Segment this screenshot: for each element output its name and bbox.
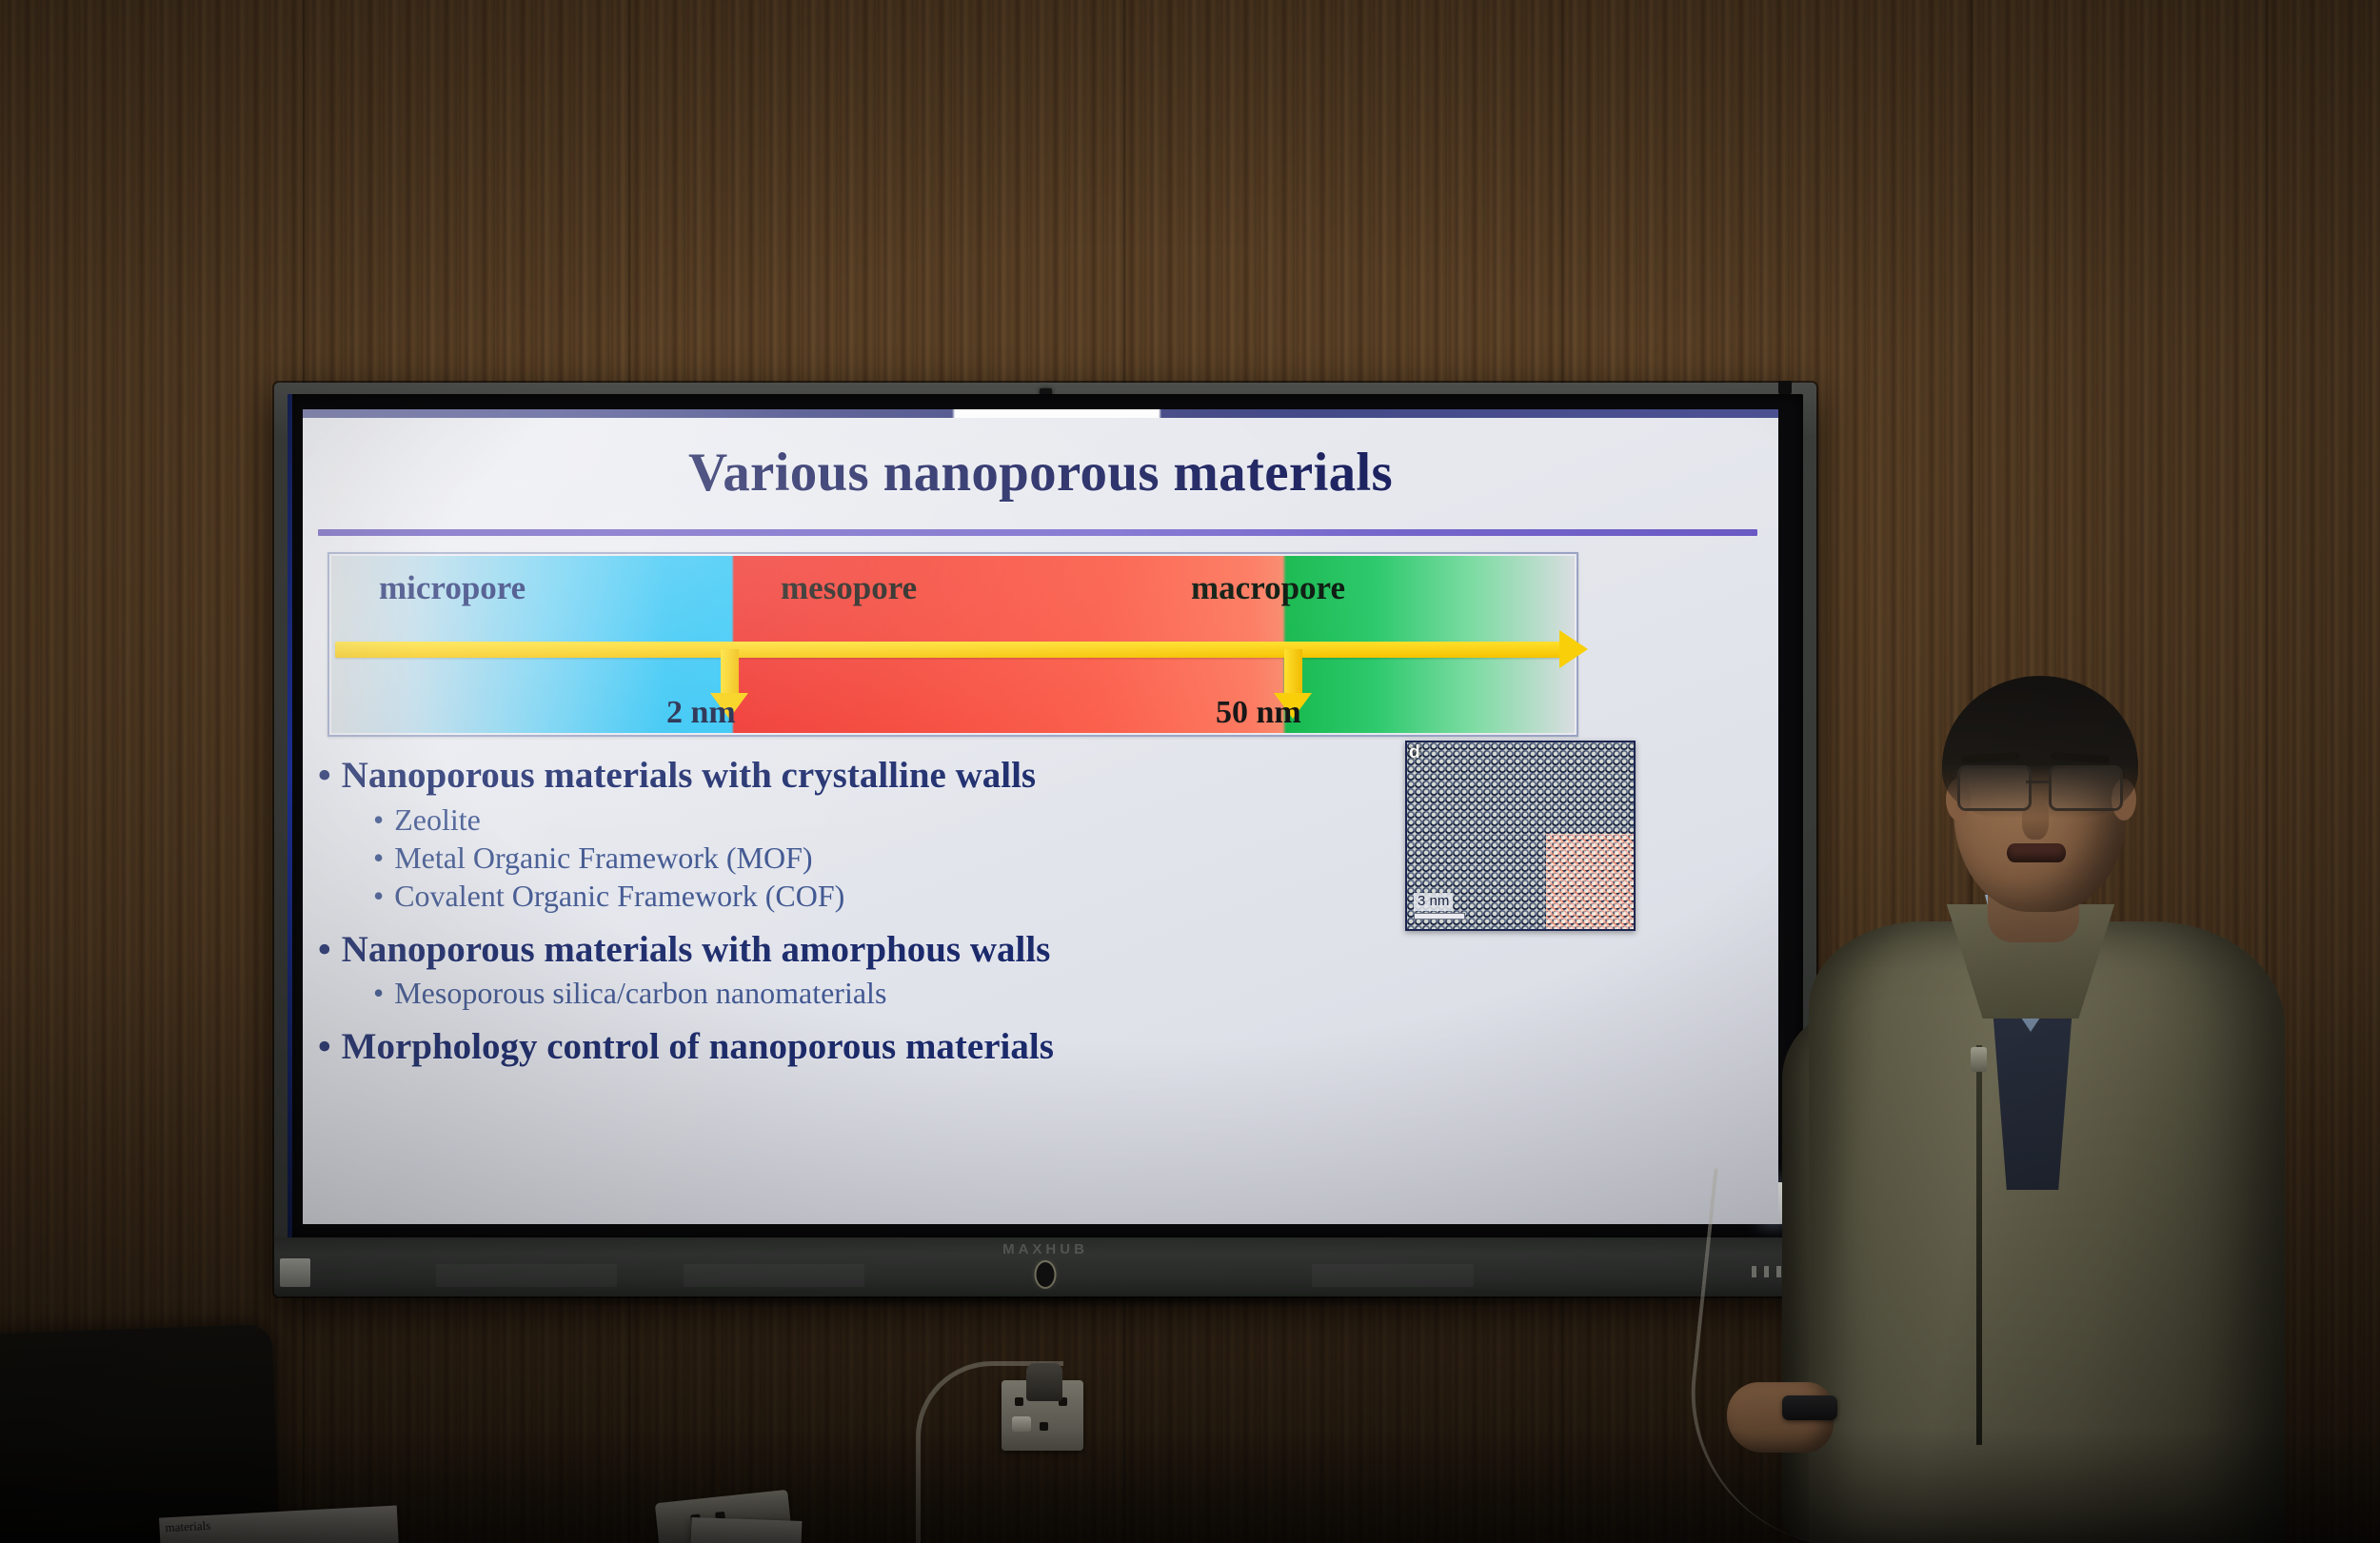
bullet-level2: •Mesoporous silica/carbon nanomaterials xyxy=(373,975,1765,1011)
pore-label-micropore: micropore xyxy=(379,571,526,604)
bullet-text: Morphology control of nanoporous materia… xyxy=(342,1026,1054,1067)
speaker-vent xyxy=(436,1264,617,1287)
bullet-level1: •Nanoporous materials with amorphous wal… xyxy=(318,928,1765,972)
presenter-mouth xyxy=(2007,843,2066,862)
boundary-label-50nm: 50 nm xyxy=(1216,695,1301,731)
bullet-text: Covalent Organic Framework (COF) xyxy=(394,879,844,913)
screen-edge-glow xyxy=(288,394,292,1237)
zipper-pull-icon xyxy=(1971,1047,1987,1072)
scale-bar-line xyxy=(1414,913,1465,920)
pore-label-macropore: macropore xyxy=(1191,571,1345,604)
title-underline xyxy=(318,529,1757,536)
bullet-text: Mesoporous silica/carbon nanomaterials xyxy=(394,976,886,1010)
interactive-display[interactable]: Various nanoporous materials micropore m… xyxy=(274,383,1816,1296)
presentation-slide[interactable]: Various nanoporous materials micropore m… xyxy=(303,409,1778,1224)
bullet-marker-icon: • xyxy=(373,840,384,876)
bullet-text: Nanoporous materials with crystalline wa… xyxy=(342,755,1036,796)
floor-shadow xyxy=(0,1429,2380,1543)
presenter-nose xyxy=(2022,800,2049,840)
speaker-vent xyxy=(684,1264,864,1287)
tem-micrograph-inset: d 3 nm xyxy=(1405,741,1636,931)
bullet-text: Metal Organic Framework (MOF) xyxy=(394,841,812,875)
socket-hole xyxy=(1015,1397,1023,1406)
display-bottom-bezel: MAXHUB xyxy=(274,1237,1816,1296)
power-button[interactable] xyxy=(1037,1262,1055,1287)
bullet-marker-icon: • xyxy=(373,801,384,838)
boundary-arrow-2nm xyxy=(721,649,739,695)
arrow-head-icon xyxy=(1559,630,1588,668)
bullet-text: Nanoporous materials with amorphous wall… xyxy=(342,929,1051,970)
io-ports[interactable] xyxy=(280,1258,310,1287)
jacket-zipper xyxy=(1976,1045,1982,1445)
scale-bar: 3 nm xyxy=(1414,893,1465,920)
display-brand-logo: MAXHUB xyxy=(1002,1241,1088,1257)
panel-label: d xyxy=(1409,743,1420,762)
bullet-marker-icon: • xyxy=(318,928,331,972)
bullet-marker-icon: • xyxy=(318,1025,331,1069)
pore-size-scale-diagram: micropore mesopore macropore 2 nm 50 nm xyxy=(327,552,1578,737)
bezel-corner-dot xyxy=(1778,381,1792,394)
slide-top-strip xyxy=(303,409,1778,418)
slide-title: Various nanoporous materials xyxy=(303,442,1778,504)
speaker-vent xyxy=(1312,1264,1474,1287)
glasses-lens xyxy=(1957,765,2032,811)
scale-bar-label: 3 nm xyxy=(1414,893,1453,911)
framework-overlay xyxy=(1546,834,1634,929)
bullet-marker-icon: • xyxy=(318,754,331,798)
boundary-arrow-50nm xyxy=(1284,649,1302,695)
bullet-text: Zeolite xyxy=(394,802,481,837)
list-spacer xyxy=(318,1014,1765,1025)
room-photo: Various nanoporous materials micropore m… xyxy=(0,0,2380,1543)
bullet-marker-icon: • xyxy=(373,878,384,914)
scale-axis-arrow xyxy=(335,642,1563,658)
boundary-label-2nm: 2 nm xyxy=(666,695,736,731)
pore-label-mesopore: mesopore xyxy=(781,571,917,604)
power-plug xyxy=(1026,1363,1062,1401)
bullet-marker-icon: • xyxy=(373,975,384,1011)
bullet-level1: •Morphology control of nanoporous materi… xyxy=(318,1025,1765,1069)
glasses-lens xyxy=(2049,765,2123,811)
glasses-bridge xyxy=(2026,781,2049,783)
display-screen[interactable]: Various nanoporous materials micropore m… xyxy=(288,394,1803,1237)
